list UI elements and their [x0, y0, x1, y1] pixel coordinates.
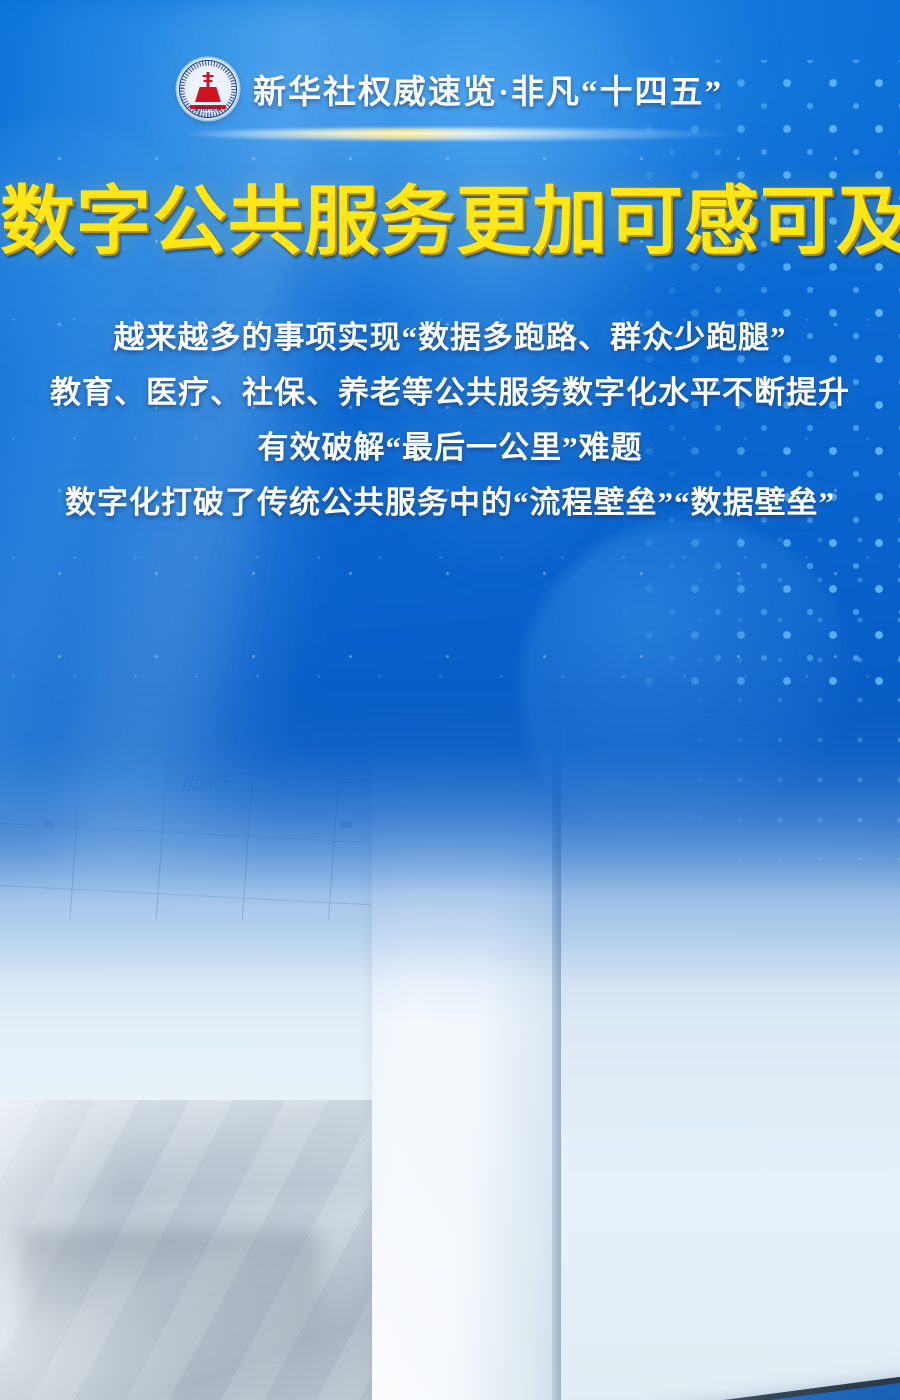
xinhua-logo-icon: XINHUA [177, 58, 239, 120]
body-line-1: 越来越多的事项实现“数据多跑路、群众少跑腿” [0, 310, 900, 365]
top-glow [150, 0, 770, 340]
logo-tower-icon [193, 72, 223, 102]
body-line-3: 有效破解“最后一公里”难题 [0, 420, 900, 475]
poster-header: XINHUA 新华社权威速览·非凡“十四五” [0, 58, 900, 120]
logo-wordmark: XINHUA [177, 107, 239, 113]
ceiling-light-1 [278, 762, 330, 779]
body-line-2: 教育、医疗、社保、养老等公共服务数字化水平不断提升 [0, 365, 900, 420]
header-divider-core [250, 132, 610, 135]
body-text-block: 越来越多的事项实现“数据多跑路、群众少跑腿” 教育、医疗、社保、养老等公共服务数… [0, 310, 900, 530]
right-wall-panel [561, 680, 900, 1400]
logo-tower-body [195, 87, 221, 102]
ceiling-sprinkler [340, 822, 352, 828]
page-title: 数字公共服务更加可感可及 [0, 185, 900, 260]
poster-canvas: XINHUA 新华社权威速览·非凡“十四五” 数字公共服务更加可感可及 越来越多… [0, 0, 900, 1400]
photo-government-service-hall: 政务公开 政务服务中心 依规办事不求人 快捷方便少跑腿 [0, 680, 900, 1400]
ceiling-light-2 [122, 728, 162, 741]
pillar-column [372, 680, 557, 1400]
ceiling-vent-2 [182, 776, 227, 790]
body-line-4: 数字化打破了传统公共服务中的“流程壁垒”“数据壁垒” [0, 475, 900, 530]
floor-shadow-reflection [20, 1230, 320, 1400]
header-title: 新华社权威速览·非凡“十四五” [253, 65, 723, 113]
ceiling-sprinkler-2 [44, 820, 53, 826]
logo-tower-mast [206, 72, 209, 88]
pillar-column-edge [552, 680, 561, 1400]
